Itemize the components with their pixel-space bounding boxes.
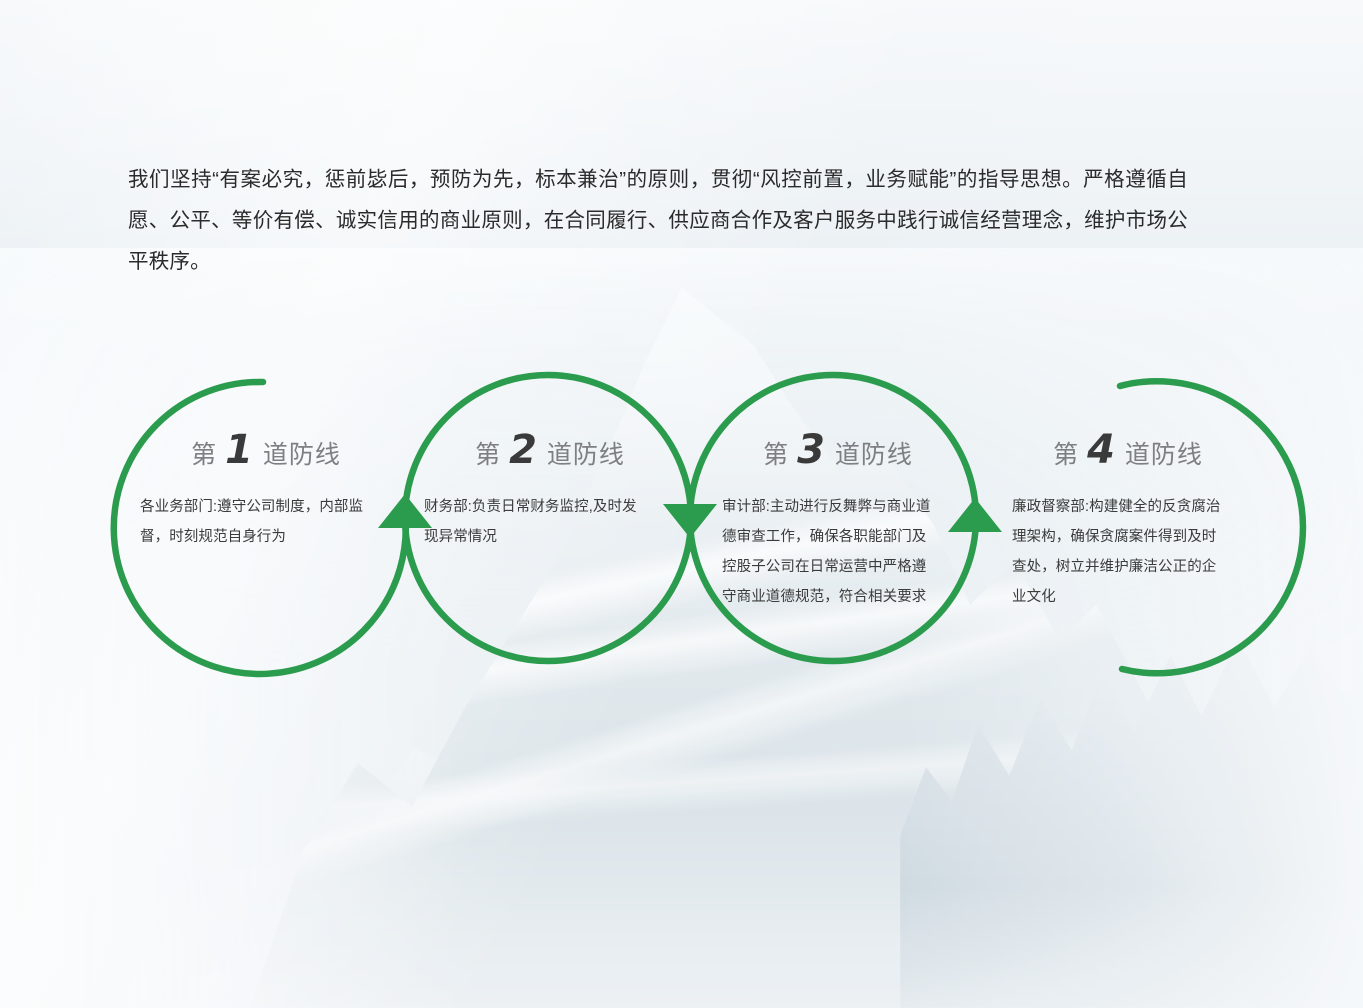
title-number: 4 — [1079, 430, 1125, 470]
title-suffix: 道防线 — [547, 443, 625, 468]
title-suffix: 道防线 — [263, 443, 341, 468]
defense-line-card-1[interactable]: 第 1 道防线 各业务部门:遵守公司制度，内部监督，时刻规范自身行为 — [140, 430, 392, 552]
title-suffix: 道防线 — [1125, 443, 1203, 468]
defense-lines-diagram: .lp{fill:none;stroke:#2b9c4d;stroke-widt… — [0, 0, 1363, 1008]
title-prefix: 第 — [475, 443, 501, 468]
defense-line-title-2: 第 2 道防线 — [424, 430, 676, 470]
defense-line-card-2[interactable]: 第 2 道防线 财务部:负责日常财务监控,及时发现异常情况 — [424, 430, 676, 552]
defense-line-card-3[interactable]: 第 3 道防线 审计部:主动进行反舞弊与商业道德审查工作，确保各职能部门及控股子… — [722, 430, 954, 612]
title-prefix: 第 — [191, 443, 217, 468]
defense-line-title-3: 第 3 道防线 — [722, 430, 954, 470]
title-number: 3 — [789, 430, 835, 470]
title-number: 1 — [217, 430, 263, 470]
defense-line-body-2: 财务部:负责日常财务监控,及时发现异常情况 — [424, 492, 646, 552]
title-prefix: 第 — [763, 443, 789, 468]
defense-line-title-1: 第 1 道防线 — [140, 430, 392, 470]
defense-line-card-4[interactable]: 第 4 道防线 廉政督察部:构建健全的反贪腐治理架构，确保贪腐案件得到及时查处，… — [1012, 430, 1244, 612]
defense-line-body-4: 廉政督察部:构建健全的反贪腐治理架构，确保贪腐案件得到及时查处，树立并维护廉洁公… — [1012, 492, 1224, 612]
defense-lines-cards: 第 1 道防线 各业务部门:遵守公司制度，内部监督，时刻规范自身行为 第 2 道… — [0, 0, 1363, 1008]
title-prefix: 第 — [1053, 443, 1079, 468]
defense-line-body-3: 审计部:主动进行反舞弊与商业道德审查工作，确保各职能部门及控股子公司在日常运营中… — [722, 492, 934, 612]
title-suffix: 道防线 — [835, 443, 913, 468]
defense-line-title-4: 第 4 道防线 — [1012, 430, 1244, 470]
title-number: 2 — [501, 430, 547, 470]
defense-line-body-1: 各业务部门:遵守公司制度，内部监督，时刻规范自身行为 — [140, 492, 378, 552]
